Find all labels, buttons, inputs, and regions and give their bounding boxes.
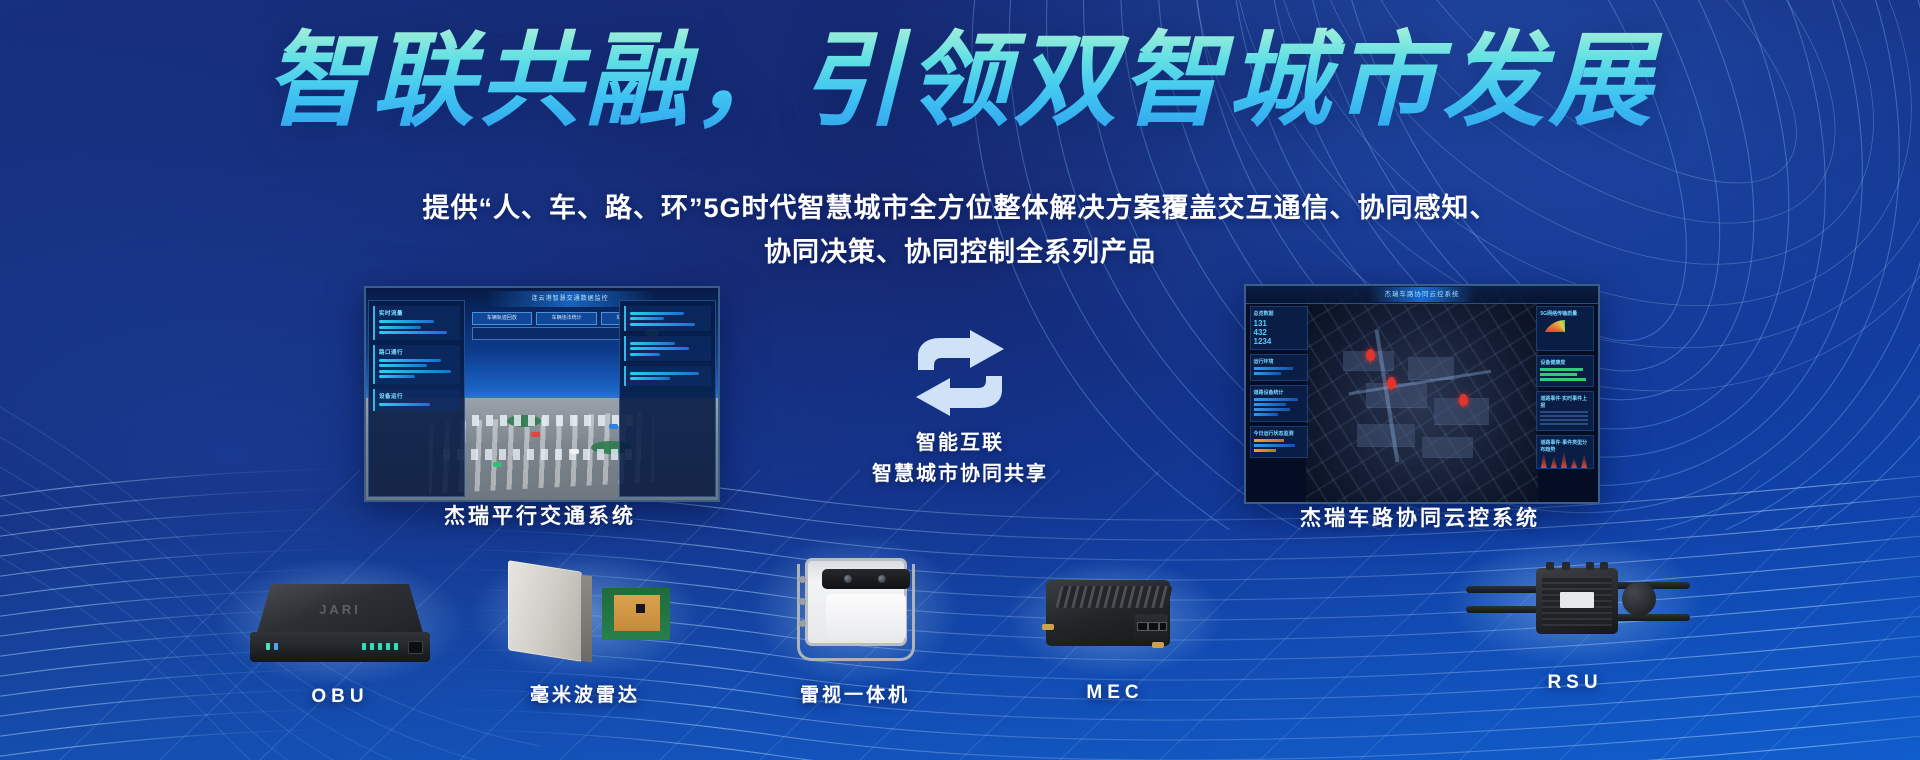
metrics-card-right-1 bbox=[624, 306, 711, 331]
exchange-arrows-icon bbox=[912, 330, 1008, 416]
card-device-stats: 道路设备统计 bbox=[1250, 385, 1308, 422]
product-row: JARI OBU bbox=[0, 510, 1920, 760]
rsu-connector-nub bbox=[1562, 562, 1570, 570]
metric-bar bbox=[1254, 403, 1286, 406]
product-mec[interactable]: MEC bbox=[1000, 576, 1230, 704]
card-title: 5G网络传输质量 bbox=[1540, 310, 1590, 317]
card-event-table: 道路事件·实时事件上报 bbox=[1536, 391, 1594, 431]
card-event-trend: 道路事件·事件类型分布趋势 bbox=[1536, 435, 1594, 469]
obu-led bbox=[370, 643, 374, 650]
metric-bar bbox=[1254, 408, 1290, 411]
card-title: 道路事件·实时事件上报 bbox=[1540, 395, 1590, 409]
metric-bar bbox=[379, 370, 451, 373]
metric-value: 432 bbox=[1254, 328, 1304, 337]
trend-spike bbox=[1551, 455, 1557, 468]
metric-bar bbox=[379, 375, 415, 378]
metric-bar bbox=[1254, 444, 1295, 447]
button-track-playback[interactable]: 车辆轨迹回放 bbox=[472, 312, 533, 325]
obu-led bbox=[266, 643, 270, 650]
vehicle-marker-4 bbox=[493, 462, 502, 467]
mec-usb-port bbox=[1148, 622, 1159, 631]
metric-bar bbox=[379, 403, 430, 406]
obu-front-face bbox=[250, 632, 430, 662]
cloud-control-dashboard: 杰瑞车路协同云控系统 总览数据 131 432 1234 运行环境 道路设备统计 bbox=[1246, 286, 1598, 502]
radar-antenna-patch bbox=[614, 595, 660, 631]
dashboard-topbar: 杰瑞车路协同云控系统 bbox=[1246, 286, 1598, 304]
online-rate-gauge bbox=[1542, 320, 1588, 344]
obu-brand-label: JARI bbox=[319, 602, 361, 617]
card-title: 设备健康度 bbox=[1540, 359, 1590, 366]
card-title: 运行环境 bbox=[1254, 358, 1304, 365]
page-subtitle: 提供“人、车、路、环”5G时代智慧城市全方位整体解决方案覆盖交互通信、协同感知、… bbox=[0, 186, 1920, 274]
right-metrics-panel bbox=[619, 300, 716, 497]
table-row-line bbox=[1540, 419, 1588, 421]
metric-bar bbox=[1254, 413, 1279, 416]
metric-value: 1234 bbox=[1254, 337, 1304, 346]
metric-bar bbox=[379, 364, 427, 367]
metrics-card-right-2 bbox=[624, 336, 711, 361]
mount-bolt bbox=[799, 620, 806, 627]
table-row-line bbox=[1540, 415, 1588, 417]
obu-led bbox=[274, 643, 278, 650]
cloud-control-system-screenshot[interactable]: 杰瑞车路协同云控系统 总览数据 131 432 1234 运行环境 道路设备统计 bbox=[1244, 284, 1600, 504]
camera-lens bbox=[878, 575, 886, 583]
product-label: 毫米波雷达 bbox=[470, 680, 700, 707]
metrics-card-intersection: 路口通行 bbox=[373, 345, 460, 384]
mec-usb-port bbox=[1159, 622, 1167, 631]
interconnect-line-1: 智能互联 bbox=[860, 428, 1060, 459]
metric-value: 131 bbox=[1254, 319, 1304, 328]
card-title: 道路事件·事件类型分布趋势 bbox=[1540, 439, 1590, 453]
metrics-card-right-3 bbox=[624, 366, 711, 386]
mec-io-panel bbox=[1134, 614, 1168, 644]
product-mmwave-radar[interactable]: 毫米波雷达 bbox=[470, 566, 700, 707]
parallel-traffic-system-screenshot[interactable]: 连云港智慧交通数据监控 车辆轨迹回放 车辆违法统计 车辆流量统计 实时流量 路口… bbox=[364, 286, 720, 502]
card-overview: 总览数据 131 432 1234 bbox=[1250, 306, 1308, 350]
interconnect-block: 智能互联 智慧城市协同共享 bbox=[860, 330, 1060, 490]
table-row-line bbox=[1540, 411, 1588, 413]
radar-pcb-board bbox=[602, 588, 670, 640]
metric-bar bbox=[630, 312, 684, 315]
health-bar bbox=[1540, 373, 1577, 376]
obu-led bbox=[378, 643, 382, 650]
obu-led bbox=[362, 643, 366, 650]
metric-bar bbox=[379, 331, 447, 334]
metrics-card-device: 设备运行 bbox=[373, 389, 460, 412]
rsu-connector-nub bbox=[1600, 562, 1608, 570]
radar-chip bbox=[636, 604, 645, 613]
metric-bar bbox=[1254, 398, 1298, 401]
metric-bar bbox=[630, 372, 699, 375]
building-block bbox=[1422, 437, 1473, 456]
event-pin[interactable] bbox=[1459, 394, 1468, 406]
metric-bar bbox=[630, 317, 664, 320]
metric-bar bbox=[379, 326, 421, 329]
interconnect-text: 智能互联 智慧城市协同共享 bbox=[860, 428, 1060, 490]
card-network-quality: 5G网络传输质量 bbox=[1536, 306, 1594, 351]
metric-bar bbox=[630, 323, 695, 326]
vehicle-marker-2 bbox=[570, 449, 579, 454]
metric-bar bbox=[630, 377, 670, 380]
rsu-antenna bbox=[1614, 614, 1690, 621]
card-daily-status: 今日运行状态监测 bbox=[1250, 426, 1308, 458]
right-stats-column: 5G网络传输质量 设备健康度 道路事件·实时事件上报 道 bbox=[1536, 306, 1594, 470]
trend-spike bbox=[1581, 453, 1587, 468]
metric-bar bbox=[1254, 367, 1293, 370]
crosswalk-2 bbox=[443, 449, 640, 460]
card-title: 道路设备统计 bbox=[1254, 389, 1304, 396]
product-rsu[interactable]: RSU bbox=[1460, 556, 1690, 694]
card-title: 实时流量 bbox=[379, 309, 456, 317]
mec-device-icon bbox=[1040, 576, 1190, 660]
subtitle-line-2: 协同决策、协同控制全系列产品 bbox=[0, 230, 1920, 274]
subtitle-line-1: 提供“人、车、路、环”5G时代智慧城市全方位整体解决方案覆盖交互通信、协同感知、 bbox=[0, 186, 1920, 230]
metric-bar bbox=[379, 359, 441, 362]
metric-bar bbox=[379, 320, 434, 323]
radar-device-icon bbox=[500, 566, 670, 662]
rsu-antenna bbox=[1466, 586, 1542, 593]
card-title: 今日运行状态监测 bbox=[1254, 430, 1304, 437]
vehicle-marker-1 bbox=[531, 432, 540, 437]
camera-lens bbox=[844, 575, 852, 583]
trend-spike bbox=[1571, 457, 1577, 468]
metric-bar bbox=[630, 353, 660, 356]
mec-antenna-connector bbox=[1042, 624, 1054, 630]
mount-bolt bbox=[799, 576, 806, 583]
rsu-dome-antenna bbox=[1622, 582, 1656, 616]
health-bar bbox=[1540, 368, 1583, 371]
product-obu[interactable]: JARI OBU bbox=[225, 576, 455, 708]
parallel-traffic-dashboard: 连云港智慧交通数据监控 车辆轨迹回放 车辆违法统计 车辆流量统计 实时流量 路口… bbox=[366, 288, 718, 500]
obu-ethernet-port bbox=[408, 641, 423, 654]
camera-visor bbox=[822, 569, 910, 589]
card-environment: 运行环境 bbox=[1250, 354, 1308, 381]
metric-bar bbox=[1254, 449, 1277, 452]
card-title: 路口通行 bbox=[379, 348, 456, 356]
product-label: MEC bbox=[1000, 682, 1230, 704]
event-pin[interactable] bbox=[1366, 349, 1375, 361]
metric-bar bbox=[630, 342, 675, 345]
card-device-health: 设备健康度 bbox=[1536, 355, 1594, 387]
rsu-connector-nub bbox=[1546, 562, 1554, 570]
metric-bar bbox=[1254, 439, 1284, 442]
lidar-camera-icon bbox=[795, 554, 915, 664]
rsu-chassis bbox=[1536, 568, 1618, 634]
left-stats-column: 总览数据 131 432 1234 运行环境 道路设备统计 bbox=[1250, 306, 1308, 470]
rsu-device-icon bbox=[1470, 556, 1680, 648]
city-3d-map bbox=[1306, 286, 1538, 502]
obu-led bbox=[386, 643, 390, 650]
obu-device-icon: JARI bbox=[250, 576, 430, 668]
radar-enclosure bbox=[508, 560, 582, 662]
mec-usb-port bbox=[1137, 622, 1148, 631]
building-block bbox=[1357, 424, 1415, 446]
product-label: RSU bbox=[1460, 672, 1690, 694]
dashboard-title: 杰瑞车路协同云控系统 bbox=[1369, 287, 1476, 302]
obu-led bbox=[394, 643, 398, 650]
card-title: 设备运行 bbox=[379, 392, 456, 400]
button-violation-stats[interactable]: 车辆违法统计 bbox=[536, 312, 597, 325]
vehicle-marker-3 bbox=[609, 424, 618, 429]
metric-bar bbox=[1254, 372, 1282, 375]
product-lidar-camera[interactable]: 雷视一体机 bbox=[740, 554, 970, 707]
card-title: 总览数据 bbox=[1254, 310, 1304, 317]
trend-spike bbox=[1541, 452, 1547, 468]
mec-chassis bbox=[1046, 580, 1170, 646]
mec-heatsink-fins bbox=[1055, 586, 1172, 608]
left-metrics-panel: 实时流量 路口通行 设备运行 bbox=[368, 300, 465, 497]
rsu-antenna bbox=[1466, 606, 1542, 613]
product-label: OBU bbox=[225, 686, 455, 708]
metric-bar bbox=[630, 347, 689, 350]
camera-housing bbox=[805, 558, 907, 646]
metrics-card-flow: 实时流量 bbox=[373, 306, 460, 340]
health-bar bbox=[1540, 378, 1586, 381]
camera-illuminator-panel bbox=[826, 594, 906, 640]
rsu-connector-nub bbox=[1586, 562, 1594, 570]
event-pin[interactable] bbox=[1387, 377, 1396, 389]
mount-bolt bbox=[799, 598, 806, 605]
rsu-label-plate bbox=[1560, 592, 1594, 608]
banner-stage: 智联共融，引领双智城市发展 提供“人、车、路、环”5G时代智慧城市全方位整体解决… bbox=[0, 0, 1920, 760]
page-title: 智联共融，引领双智城市发展 bbox=[0, 24, 1920, 139]
product-label: 雷视一体机 bbox=[740, 680, 970, 707]
table-row-line bbox=[1540, 423, 1588, 425]
interconnect-line-2: 智慧城市协同共享 bbox=[860, 459, 1060, 490]
mec-antenna-connector bbox=[1152, 642, 1164, 648]
